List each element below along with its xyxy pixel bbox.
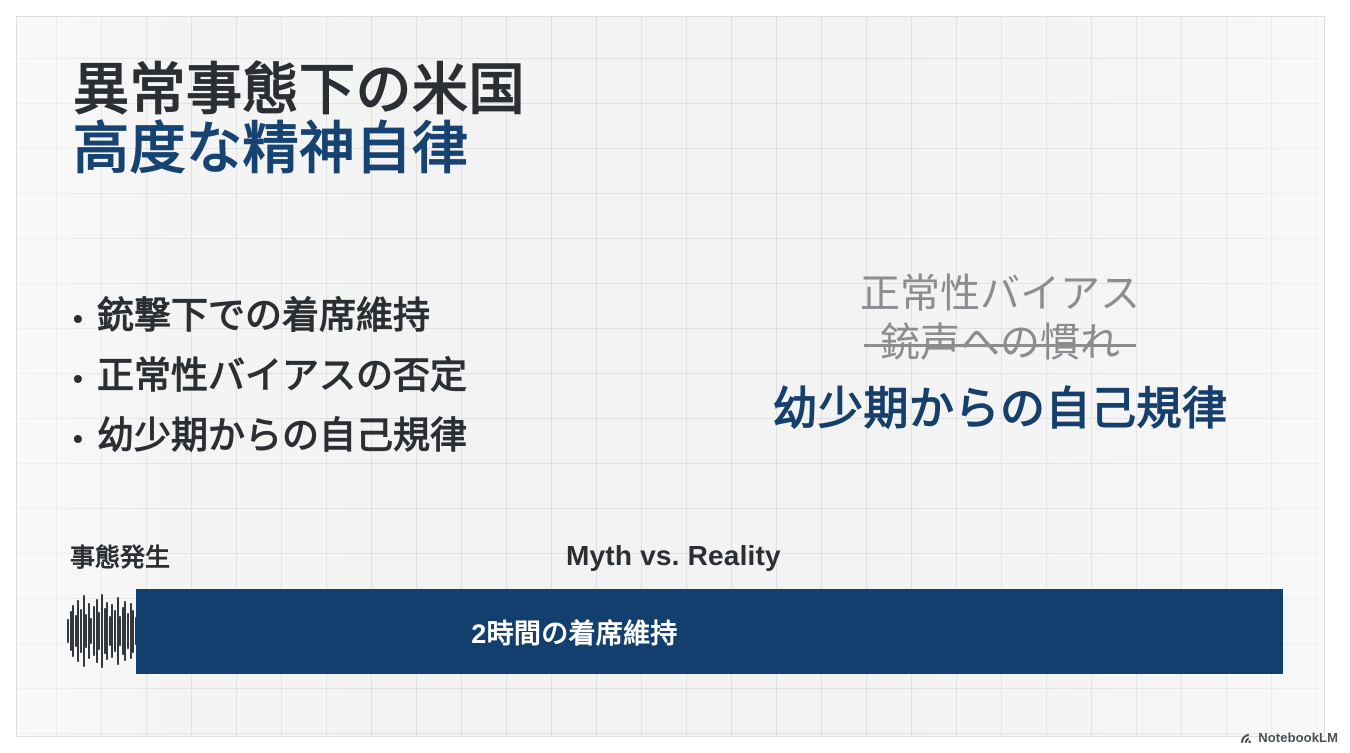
list-item: • 正常性バイアスの否定	[73, 346, 467, 406]
duration-bar-label: 2時間の着席維持	[471, 612, 677, 651]
duration-bar: 2時間の着席維持	[136, 589, 1283, 674]
list-item: • 銃撃下での着席維持	[73, 286, 467, 346]
bullet-dot-icon: •	[73, 425, 97, 453]
title-line-secondary: 高度な精神自律	[73, 119, 525, 178]
notebooklm-watermark: NotebookLM	[1239, 730, 1338, 745]
bullet-dot-icon: •	[73, 305, 97, 333]
strikethrough-rule	[864, 344, 1136, 347]
notebooklm-watermark-label: NotebookLM	[1258, 730, 1338, 745]
title-line-primary: 異常事態下の米国	[73, 60, 525, 119]
myth-text-primary: 正常性バイアス	[700, 270, 1300, 319]
list-item-label: 幼少期からの自己規律	[97, 406, 467, 466]
page-title: 異常事態下の米国 高度な精神自律	[73, 60, 525, 179]
section-heading: Myth vs. Reality	[566, 540, 781, 572]
myth-reality-stack: 正常性バイアス 銃声への慣れ 幼少期からの自己規律	[700, 270, 1300, 437]
list-item: • 幼少期からの自己規律	[73, 406, 467, 466]
reality-text: 幼少期からの自己規律	[700, 372, 1300, 437]
key-points-list: • 銃撃下での着席維持 • 正常性バイアスの否定 • 幼少期からの自己規律	[73, 286, 467, 466]
list-item-label: 正常性バイアスの否定	[97, 346, 467, 406]
slide-canvas: 異常事態下の米国 高度な精神自律 • 銃撃下での着席維持 • 正常性バイアスの否…	[0, 0, 1350, 753]
notebooklm-logo-icon	[1239, 731, 1253, 745]
event-start-label: 事態発生	[70, 538, 170, 574]
myth-text-secondary-label: 銃声への慣れ	[880, 321, 1120, 365]
myth-text-secondary-struck: 銃声への慣れ	[880, 319, 1120, 368]
bullet-dot-icon: •	[73, 365, 97, 393]
audio-waveform-icon	[67, 588, 137, 674]
list-item-label: 銃撃下での着席維持	[97, 286, 430, 346]
myth-text-secondary-wrapper: 銃声への慣れ	[700, 319, 1300, 368]
